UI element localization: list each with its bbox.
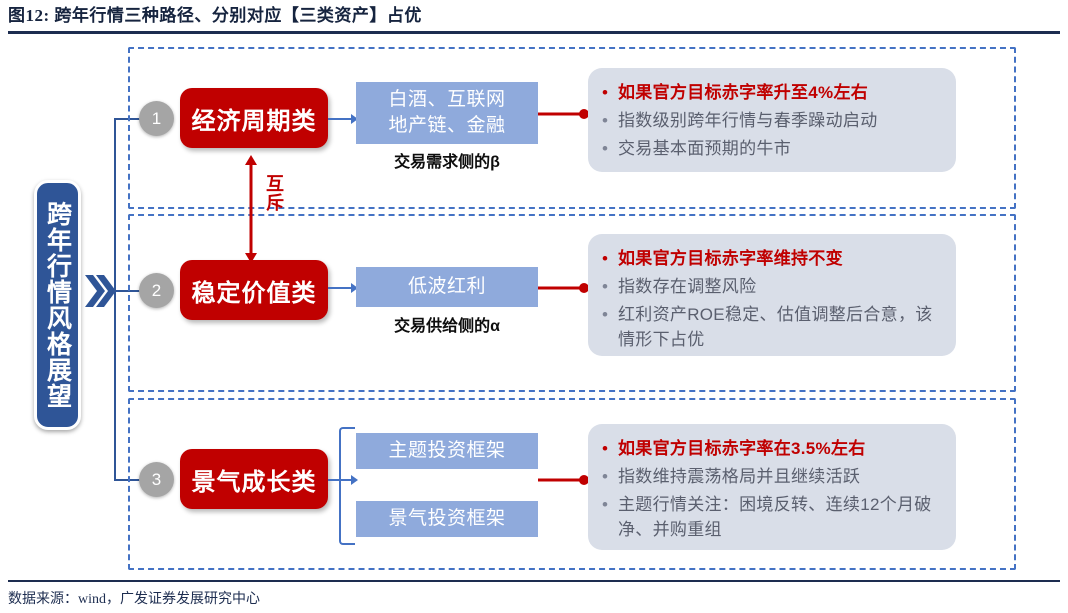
- bullet-item: • 指数级别跨年行情与春季躁动启动: [602, 108, 940, 133]
- section-badge-3: 3: [139, 462, 174, 497]
- category-box-growth[interactable]: 景气成长类: [180, 449, 328, 509]
- category-box-economic-cycle[interactable]: 经济周期类: [180, 88, 328, 148]
- bullet-panel-2: • 如果官方目标赤字率维持不变 • 指数存在调整风险 • 红利资产ROE稳定、估…: [588, 234, 956, 356]
- bullet-item: • 主题行情关注：困境反转、连续12个月破净、并购重组: [602, 492, 940, 542]
- red-connector-3: [538, 473, 590, 485]
- bullet-item: • 指数维持震荡格局并且继续活跃: [602, 464, 940, 489]
- red-connector-1: [538, 107, 590, 119]
- double-chevron-right-icon: [84, 272, 114, 310]
- branch-bracket: [339, 427, 355, 545]
- bullet-dot-icon: •: [602, 80, 618, 105]
- asset-box-low-vol-dividend: 低波红利: [356, 267, 538, 307]
- bullet-dot-icon: •: [602, 108, 618, 133]
- bullet-dot-icon: •: [602, 436, 618, 461]
- footer-divider: [8, 580, 1060, 582]
- bullet-dot-icon: •: [602, 274, 618, 299]
- double-headed-vertical-arrow-icon: [243, 155, 259, 263]
- bullet-dot-icon: •: [602, 492, 618, 517]
- bullet-dot-icon: •: [602, 136, 618, 161]
- category-box-stable-value[interactable]: 稳定价值类: [180, 260, 328, 320]
- red-connector-2: [538, 281, 590, 293]
- asset-caption-1: 交易需求侧的β: [356, 148, 538, 172]
- bullet-dot-icon: •: [602, 464, 618, 489]
- bullet-item: • 如果官方目标赤字率升至4%左右: [602, 80, 940, 105]
- spine-line: [114, 118, 116, 480]
- asset-box-prosperity-framework: 景气投资框架: [356, 501, 538, 537]
- arrow-right-icon-2: [328, 281, 358, 293]
- bullet-item: • 如果官方目标赤字率维持不变: [602, 246, 940, 271]
- bullet-panel-1: • 如果官方目标赤字率升至4%左右 • 指数级别跨年行情与春季躁动启动 • 交易…: [588, 68, 956, 172]
- bullet-panel-3: • 如果官方目标赤字率在3.5%左右 • 指数维持震荡格局并且继续活跃 • 主题…: [588, 424, 956, 550]
- title-divider: [8, 31, 1060, 34]
- section-badge-2: 2: [139, 273, 174, 308]
- bullet-item: • 如果官方目标赤字率在3.5%左右: [602, 436, 940, 461]
- bullet-item: • 交易基本面预期的牛市: [602, 136, 940, 161]
- bullet-item: • 指数存在调整风险: [602, 274, 940, 299]
- source-note: 数据来源：wind，广发证券发展研究中心: [8, 588, 260, 608]
- asset-box-thematic-framework: 主题投资框架: [356, 433, 538, 469]
- asset-caption-2: 交易供给侧的α: [356, 312, 538, 336]
- bullet-dot-icon: •: [602, 246, 618, 271]
- mutex-label: 互斥: [264, 174, 284, 212]
- arrow-right-icon-1: [328, 112, 358, 124]
- bullet-dot-icon: •: [602, 302, 618, 327]
- asset-box-cyclical: 白酒、互联网 地产链、金融: [356, 82, 538, 144]
- bullet-item: • 红利资产ROE稳定、估值调整后合意，该情形下占优: [602, 302, 940, 352]
- page-title: 图12: 跨年行情三种路径、分别对应【三类资产】占优: [8, 2, 1060, 32]
- section-badge-1: 1: [139, 101, 174, 136]
- left-title-block: 跨年行情风格展望: [34, 180, 81, 430]
